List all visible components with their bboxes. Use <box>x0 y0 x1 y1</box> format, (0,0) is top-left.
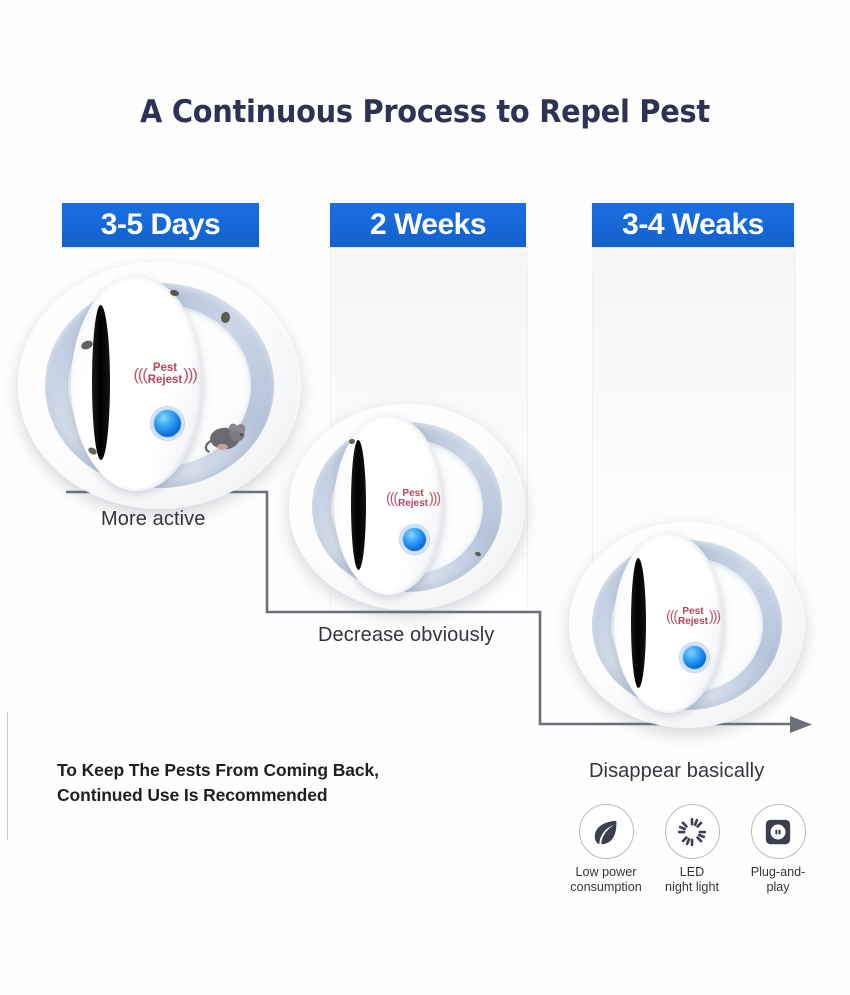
stage-2-caption: Decrease obviously <box>318 624 494 647</box>
feature-low-power: Low power consumption <box>570 804 642 896</box>
feature-plug-and-play: Plug-and-play <box>742 804 814 896</box>
sound-wave-right-icon: ))) <box>709 610 720 625</box>
sound-wave-right-icon: ))) <box>429 492 440 507</box>
sound-wave-left-icon: ((( <box>133 366 146 383</box>
pest-mouse <box>204 420 250 454</box>
usage-note-line-1: To Keep The Pests From Coming Back, <box>57 758 379 783</box>
device-speaker-slot <box>351 440 366 570</box>
brand-line-2: Rejest <box>678 617 708 627</box>
stage-3-banner: 3-4 Weaks <box>592 203 794 247</box>
stage-1-caption: More active <box>101 508 205 531</box>
feature-icon-circle <box>665 804 720 859</box>
stage-3-banner-label: 3-4 Weaks <box>622 210 764 240</box>
feature-label: Plug-and-play <box>742 865 814 896</box>
stage-2-banner: 2 Weeks <box>330 203 526 247</box>
feature-led-night-light: LED night light <box>656 804 728 896</box>
stage-3-caption: Disappear basically <box>589 760 764 783</box>
brand-line-2: Rejest <box>398 499 428 509</box>
stage-1-banner: 3-5 Days <box>62 203 259 247</box>
device-brand-logo: ((( Pest Rejest ))) <box>657 602 729 632</box>
device-stage-2: ((( Pest Rejest ))) <box>289 404 525 610</box>
led-burst-icon <box>677 817 707 847</box>
usage-note: To Keep The Pests From Coming Back, Cont… <box>57 758 379 808</box>
blue-led-indicator <box>403 528 426 551</box>
sound-wave-left-icon: ((( <box>666 610 677 625</box>
page-title: A Continuous Process to Repel Pest <box>30 94 821 130</box>
feature-icon-circle <box>751 804 806 859</box>
feature-label: LED night light <box>665 865 719 896</box>
device-brand-logo: ((( Pest Rejest ))) <box>123 358 207 392</box>
blue-led-indicator <box>683 646 706 669</box>
usage-note-line-2: Continued Use Is Recommended <box>57 783 379 808</box>
feature-icon-circle <box>579 804 634 859</box>
leaf-icon <box>591 817 621 847</box>
feature-label: Low power consumption <box>570 865 641 896</box>
device-speaker-slot <box>631 558 646 688</box>
sound-wave-left-icon: ((( <box>386 492 397 507</box>
feature-list: Low power consumption <box>570 804 814 896</box>
stage-2-banner-label: 2 Weeks <box>370 210 486 240</box>
blue-led-indicator <box>154 410 181 437</box>
device-stage-1: ((( Pest Rejest ))) <box>18 262 301 509</box>
stage-1-banner-label: 3-5 Days <box>101 210 220 240</box>
device-brand-logo: ((( Pest Rejest ))) <box>377 484 449 514</box>
sound-wave-right-icon: ))) <box>183 366 196 383</box>
device-speaker-slot <box>92 305 110 460</box>
device-stage-3: ((( Pest Rejest ))) <box>569 522 805 728</box>
brand-line-2: Rejest <box>148 375 183 387</box>
left-edge-divider <box>7 712 8 840</box>
power-socket-icon <box>763 817 793 847</box>
